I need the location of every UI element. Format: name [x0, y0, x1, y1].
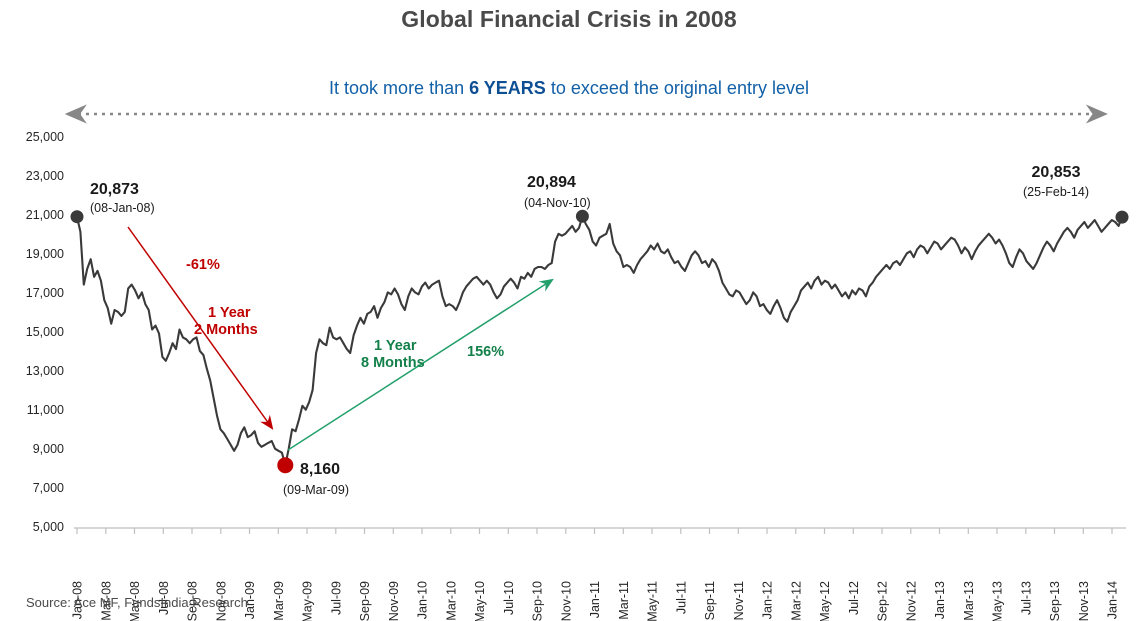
chart-container: Global Financial Crisis in 2008 It took … — [0, 0, 1138, 621]
x-axis-tick-label: Sep-11 — [703, 581, 717, 620]
rebound-duration-line2: 8 Months — [361, 355, 425, 371]
recovery-peak-value: 20,894 — [527, 174, 576, 191]
drawdown-duration-line1: 1 Year — [208, 305, 251, 321]
x-axis-tick-label: Mar-13 — [962, 581, 976, 621]
x-axis-tick-label: May-09 — [301, 581, 315, 621]
x-axis-tick-label: May-12 — [818, 581, 832, 621]
x-axis-tick-label: Jul-10 — [502, 581, 516, 615]
x-axis-tick-label: May-11 — [646, 581, 660, 621]
drawdown-duration-line2: 2 Months — [194, 322, 258, 338]
svg-text:23,000: 23,000 — [26, 169, 64, 183]
x-axis-tick-label: Jul-12 — [847, 581, 861, 615]
source-note: Source: Ace MF, FundsIndia Research — [26, 595, 248, 610]
entry-value: 20,873 — [90, 181, 139, 198]
svg-text:25,000: 25,000 — [26, 130, 64, 144]
x-axis-tick-label: Mar-09 — [272, 581, 286, 621]
x-axis-tick-label: Jul-11 — [674, 581, 688, 614]
final-value: 20,853 — [1032, 164, 1081, 181]
y-axis: 25,000 23,000 21,000 19,000 17,000 15,00… — [26, 130, 64, 534]
final-point-marker — [1116, 211, 1129, 224]
svg-text:17,000: 17,000 — [26, 286, 64, 300]
x-axis-tick-label: Jan-11 — [588, 581, 602, 618]
recovery-peak-date: (04-Nov-10) — [524, 196, 591, 210]
entry-date: (08-Jan-08) — [90, 201, 155, 215]
x-axis-tick-label: Jan-14 — [1106, 581, 1120, 619]
x-axis-tick-label: Mar-12 — [789, 581, 803, 621]
x-axis-tick-label: Mar-11 — [617, 581, 631, 620]
rebound-annotation: 156% 1 Year 8 Months — [361, 338, 504, 371]
svg-text:9,000: 9,000 — [33, 442, 64, 456]
x-axis-tick-label: Mar-10 — [444, 581, 458, 621]
rebound-duration-line1: 1 Year — [374, 338, 417, 354]
entry-annotation: 20,873 (08-Jan-08) — [90, 181, 155, 215]
x-axis-tick-label: Nov-10 — [559, 581, 573, 621]
x-axis-tick-label: Nov-09 — [387, 581, 401, 621]
x-axis-tick-label: Sep-10 — [531, 581, 545, 621]
index-level-line — [77, 216, 1122, 465]
entry-point-marker — [71, 210, 84, 223]
svg-text:15,000: 15,000 — [26, 325, 64, 339]
svg-text:5,000: 5,000 — [33, 520, 64, 534]
x-axis-tick-label: Jan-10 — [416, 581, 430, 619]
svg-text:19,000: 19,000 — [26, 247, 64, 261]
svg-text:21,000: 21,000 — [26, 208, 64, 222]
drawdown-annotation: -61% 1 Year 2 Months — [186, 257, 258, 338]
x-axis-tick-label: May-13 — [991, 581, 1005, 621]
x-axis-tick-label: Nov-12 — [904, 581, 918, 621]
x-axis-tick-label: May-10 — [473, 581, 487, 621]
rebound-percent: 156% — [467, 344, 504, 360]
trough-value: 8,160 — [300, 461, 340, 478]
x-axis-tick-label: Sep-13 — [1048, 581, 1062, 621]
trough-point-marker — [277, 457, 293, 473]
x-axis-tick-label: Sep-09 — [358, 581, 372, 621]
x-axis-tick-label: Jan-13 — [933, 581, 947, 619]
x-axis-tick-label: Jul-09 — [329, 581, 343, 615]
recovery-peak-annotation: 20,894 (04-Nov-10) — [524, 174, 591, 210]
trough-date: (09-Mar-09) — [283, 483, 349, 497]
chart-plot-area: 25,000 23,000 21,000 19,000 17,000 15,00… — [0, 0, 1138, 621]
svg-text:11,000: 11,000 — [27, 403, 64, 417]
drawdown-percent: -61% — [186, 257, 220, 273]
recovery-peak-marker — [576, 210, 589, 223]
x-axis-tick-label: Sep-12 — [876, 581, 890, 621]
final-annotation: 20,853 (25-Feb-14) — [1023, 164, 1089, 199]
x-axis-tick-label: Nov-13 — [1077, 581, 1091, 621]
x-axis-tick-label: Jan-12 — [761, 581, 775, 619]
x-axis-tick-label: Nov-11 — [732, 581, 746, 620]
final-date: (25-Feb-14) — [1023, 185, 1089, 199]
svg-text:13,000: 13,000 — [26, 364, 64, 378]
svg-text:7,000: 7,000 — [33, 481, 64, 495]
x-axis-tick-label: Jul-13 — [1019, 581, 1033, 615]
